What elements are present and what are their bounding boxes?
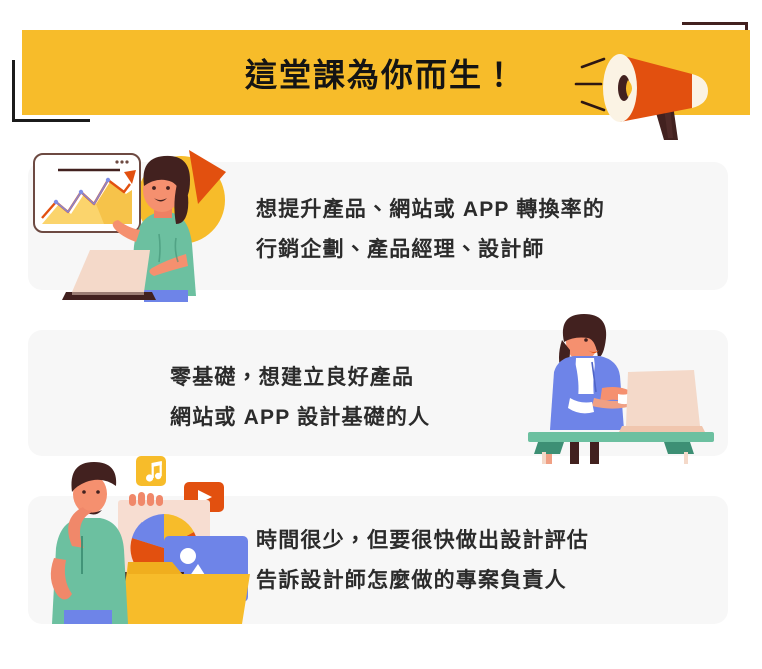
person-desk-laptop-illustration — [508, 312, 732, 464]
promo-page: 這堂課為你而生！ — [0, 0, 762, 669]
audience-card-1-text: 想提升產品、網站或 APP 轉換率的 行銷企劃、產品經理、設計師 — [256, 190, 605, 270]
music-note-icon — [136, 456, 166, 486]
audience-card-3-text: 時間很少，但要很快做出設計評估 告訴設計師怎麼做的專案負責人 — [256, 521, 589, 601]
audience-card-2-line1: 零基礎，想建立良好產品 — [170, 358, 430, 398]
audience-card-3-line1: 時間很少，但要很快做出設計評估 — [256, 521, 589, 561]
megaphone-icon — [568, 22, 728, 140]
audience-card-3-line2: 告訴設計師怎麼做的專案負責人 — [256, 561, 589, 601]
audience-card-1-line1: 想提升產品、網站或 APP 轉換率的 — [256, 190, 605, 230]
audience-card-1-line2: 行銷企劃、產品經理、設計師 — [256, 230, 605, 270]
man-media-folder-illustration — [36, 452, 268, 624]
audience-card-2-text: 零基礎，想建立良好產品 網站或 APP 設計基礎的人 — [170, 358, 430, 438]
header-banner: 這堂課為你而生！ — [0, 0, 762, 140]
woman-analytics-laptop-illustration — [26, 142, 252, 302]
audience-card-2-line2: 網站或 APP 設計基礎的人 — [170, 398, 430, 438]
